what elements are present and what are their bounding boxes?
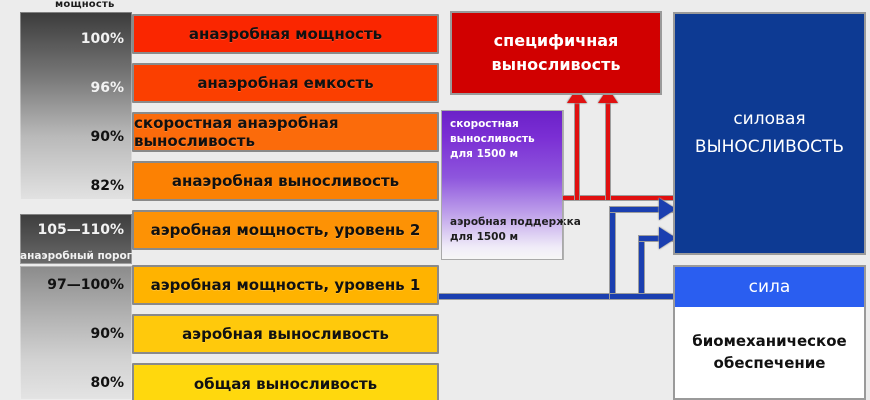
pct-label-1: 96% bbox=[90, 81, 124, 95]
zone-bar-label: скоростная анаэробная выносливость bbox=[134, 114, 437, 150]
anaerobic-threshold-label: анаэробный порог bbox=[20, 250, 132, 262]
strength-endurance-box[interactable]: силовая ВЫНОСЛИВОСТЬ bbox=[673, 12, 866, 255]
zone-bar-general-endurance[interactable]: общая выносливость bbox=[132, 363, 439, 400]
red-connector-vertical-right bbox=[606, 100, 610, 200]
pct-label-0: 100% bbox=[81, 32, 124, 46]
pct-label-6: 90% bbox=[90, 327, 124, 341]
force-card-body-line-1: биомеханическое bbox=[692, 330, 846, 353]
power-scale-panel-anaerobic: 100% 96% 90% 82% bbox=[20, 12, 132, 200]
zone-bar-aerobic-power-level-2[interactable]: аэробная мощность, уровень 2 bbox=[132, 210, 439, 250]
specific-endurance-box[interactable]: специфичная выносливость bbox=[450, 11, 662, 95]
aerobic-support-line-1: аэробная поддержка bbox=[450, 215, 581, 230]
strength-endurance-line-2: ВЫНОСЛИВОСТЬ bbox=[695, 134, 844, 161]
pct-label-5: 97—100% bbox=[47, 278, 124, 292]
force-card-title: сила bbox=[675, 267, 864, 307]
blue-connector-horizontal-main bbox=[439, 294, 615, 299]
power-scale-panel-aerobic: 97—100% 90% 80% bbox=[20, 266, 132, 400]
zone-bar-speed-anaerobic-endurance[interactable]: скоростная анаэробная выносливость bbox=[132, 112, 439, 152]
zone-bar-aerobic-endurance[interactable]: аэробная выносливость bbox=[132, 314, 439, 354]
diagram-canvas: мощность 100% 96% 90% 82% 105—110% анаэр… bbox=[0, 0, 870, 400]
power-scale-panel-threshold: 105—110% анаэробный порог bbox=[20, 214, 132, 264]
pct-label-7: 80% bbox=[90, 376, 124, 390]
pct-label-3: 82% bbox=[90, 179, 124, 193]
zone-bar-label: анаэробная выносливость bbox=[172, 172, 399, 190]
speed-endurance-1500-box: скоростная выносливость для 1500 м аэроб… bbox=[441, 110, 563, 260]
aerobic-support-text: аэробная поддержка для 1500 м bbox=[450, 215, 581, 245]
zone-bar-anaerobic-endurance[interactable]: анаэробная выносливость bbox=[132, 161, 439, 201]
force-card-body-line-2: обеспечение bbox=[714, 352, 826, 375]
red-connector-vertical-left bbox=[575, 100, 579, 200]
speed-endurance-line-3: для 1500 м bbox=[450, 147, 535, 162]
zone-bar-label: аэробная мощность, уровень 2 bbox=[151, 221, 421, 239]
axis-caption: мощность bbox=[55, 0, 115, 10]
column-divider bbox=[563, 110, 564, 260]
blue-connector-vertical-b bbox=[639, 236, 644, 294]
zone-bar-label: общая выносливость bbox=[194, 375, 377, 393]
speed-endurance-line-2: выносливость bbox=[450, 132, 535, 147]
aerobic-support-line-2: для 1500 м bbox=[450, 230, 581, 245]
blue-connector-horizontal-c bbox=[610, 294, 676, 299]
zone-bar-label: аэробная мощность, уровень 1 bbox=[151, 276, 421, 294]
specific-endurance-line-1: специфичная bbox=[494, 29, 619, 53]
speed-endurance-line-1: скоростная bbox=[450, 117, 535, 132]
zone-bar-label: анаэробная емкость bbox=[197, 74, 373, 92]
speed-endurance-text: скоростная выносливость для 1500 м bbox=[450, 117, 535, 163]
zone-bar-label: анаэробная мощность bbox=[189, 25, 382, 43]
force-card[interactable]: сила биомеханическое обеспечение bbox=[673, 265, 866, 400]
zone-bar-anaerobic-capacity[interactable]: анаэробная емкость bbox=[132, 63, 439, 103]
zone-bar-label: аэробная выносливость bbox=[182, 325, 389, 343]
specific-endurance-line-2: выносливость bbox=[491, 53, 620, 77]
pct-label-4: 105—110% bbox=[38, 223, 124, 237]
strength-endurance-line-1: силовая bbox=[733, 106, 805, 133]
zone-bar-aerobic-power-level-1[interactable]: аэробная мощность, уровень 1 bbox=[132, 265, 439, 305]
pct-label-2: 90% bbox=[90, 130, 124, 144]
zone-bar-anaerobic-power[interactable]: анаэробная мощность bbox=[132, 14, 439, 54]
force-card-body: биомеханическое обеспечение bbox=[675, 307, 864, 397]
blue-connector-vertical-a bbox=[610, 207, 615, 299]
